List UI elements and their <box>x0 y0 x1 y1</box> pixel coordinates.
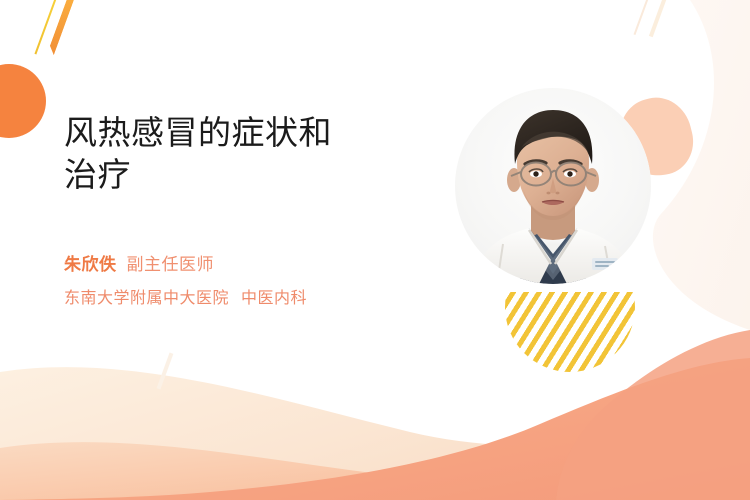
title-block: 风热感冒的症状和 治疗 <box>64 112 434 196</box>
hospital-name: 东南大学附属中大医院 <box>64 284 229 308</box>
doctor-portrait-illustration <box>455 88 651 284</box>
decor-stripe-yellow-thin <box>34 0 57 54</box>
wave-mid <box>0 430 750 500</box>
doctor-row: 朱欣佚 副主任医师 <box>64 250 464 275</box>
wave-coral <box>0 358 750 500</box>
decor-stripe-pale-c <box>157 352 174 389</box>
decor-stripe-orange-thick <box>47 0 75 55</box>
page-title: 风热感冒的症状和 治疗 <box>64 112 434 196</box>
video-cover-card: 风热感冒的症状和 治疗 朱欣佚 副主任医师 东南大学附属中大医院 中医内科 <box>0 0 750 500</box>
affiliation-row: 东南大学附属中大医院 中医内科 <box>64 284 464 308</box>
doctor-name: 朱欣佚 <box>64 250 117 275</box>
soft-right-field <box>653 0 750 330</box>
decor-striped-disc <box>505 292 635 372</box>
decor-stripe-pale-a <box>649 0 669 37</box>
decor-circle-left <box>0 64 46 138</box>
decor-stripe-pale-b <box>634 0 651 35</box>
doctor-title: 副主任医师 <box>127 250 215 275</box>
byline-block: 朱欣佚 副主任医师 东南大学附属中大医院 中医内科 <box>64 250 464 308</box>
decor-striped-disc-fill <box>505 292 635 372</box>
doctor-portrait <box>455 88 651 284</box>
wave-light <box>0 367 750 500</box>
department-name: 中医内科 <box>241 284 307 308</box>
